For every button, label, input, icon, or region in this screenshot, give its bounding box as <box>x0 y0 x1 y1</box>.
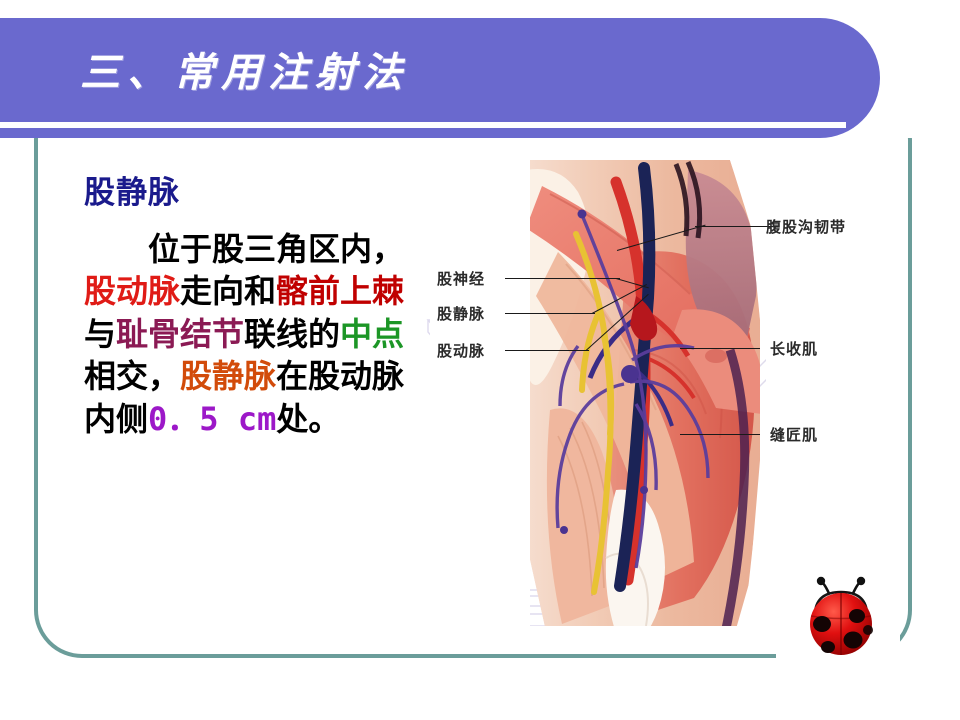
anatomy-label-inguinal-ligament: 腹股沟韧带 <box>766 216 846 237</box>
anatomy-label-femoral-vein: 股静脉 <box>437 303 485 324</box>
leader-femoral-nerve <box>505 278 620 279</box>
anatomy-label-sartorius: 缝匠肌 <box>770 424 818 445</box>
anatomy-label-femoral-artery: 股动脉 <box>437 340 485 361</box>
body-paragraph: 位于股三角区内，股动脉走向和髂前上棘与耻骨结节联线的中点相交，股静脉在股动脉内侧… <box>84 228 414 441</box>
body-seg-distance: 0．5 cm <box>148 400 276 438</box>
body-seg-9: 相交， <box>84 357 180 395</box>
leader-adductor-longus <box>680 348 760 349</box>
text-column: 股静脉 位于股三角区内，股动脉走向和髂前上棘与耻骨结节联线的中点相交，股静脉在股… <box>84 176 414 440</box>
body-seg-1: 位于股三角区内， <box>148 230 404 268</box>
body-seg-13: 处。 <box>276 400 340 438</box>
body-seg-femoral-vein: 股静脉 <box>180 357 276 395</box>
subheading: 股静脉 <box>84 176 414 212</box>
page-title: 三、常用注射法 <box>80 40 409 98</box>
leader-femoral-artery <box>505 350 589 351</box>
body-seg-femoral-artery: 股动脉 <box>84 272 180 310</box>
body-seg-asis: 髂前上棘 <box>276 272 404 310</box>
anatomy-label-adductor-longus: 长收肌 <box>770 338 818 359</box>
body-seg-7: 联线的 <box>244 315 340 353</box>
anatomy-label-femoral-nerve: 股神经 <box>437 268 485 289</box>
body-seg-3: 走向和 <box>180 272 276 310</box>
leader-femoral-vein <box>505 313 595 314</box>
slide-canvas: 2 3 ALCOHOL 三、常用注射法 股静脉 位于股三角区内，股动脉走向和髂前… <box>0 0 960 720</box>
leader-sartorius <box>680 434 760 435</box>
body-seg-5: 与 <box>84 315 116 353</box>
body-seg-pubic-tubercle: 耻骨结节 <box>116 315 244 353</box>
body-seg-midpoint: 中点 <box>340 315 404 353</box>
title-underline <box>0 122 846 128</box>
ladybug-icon <box>795 572 887 664</box>
